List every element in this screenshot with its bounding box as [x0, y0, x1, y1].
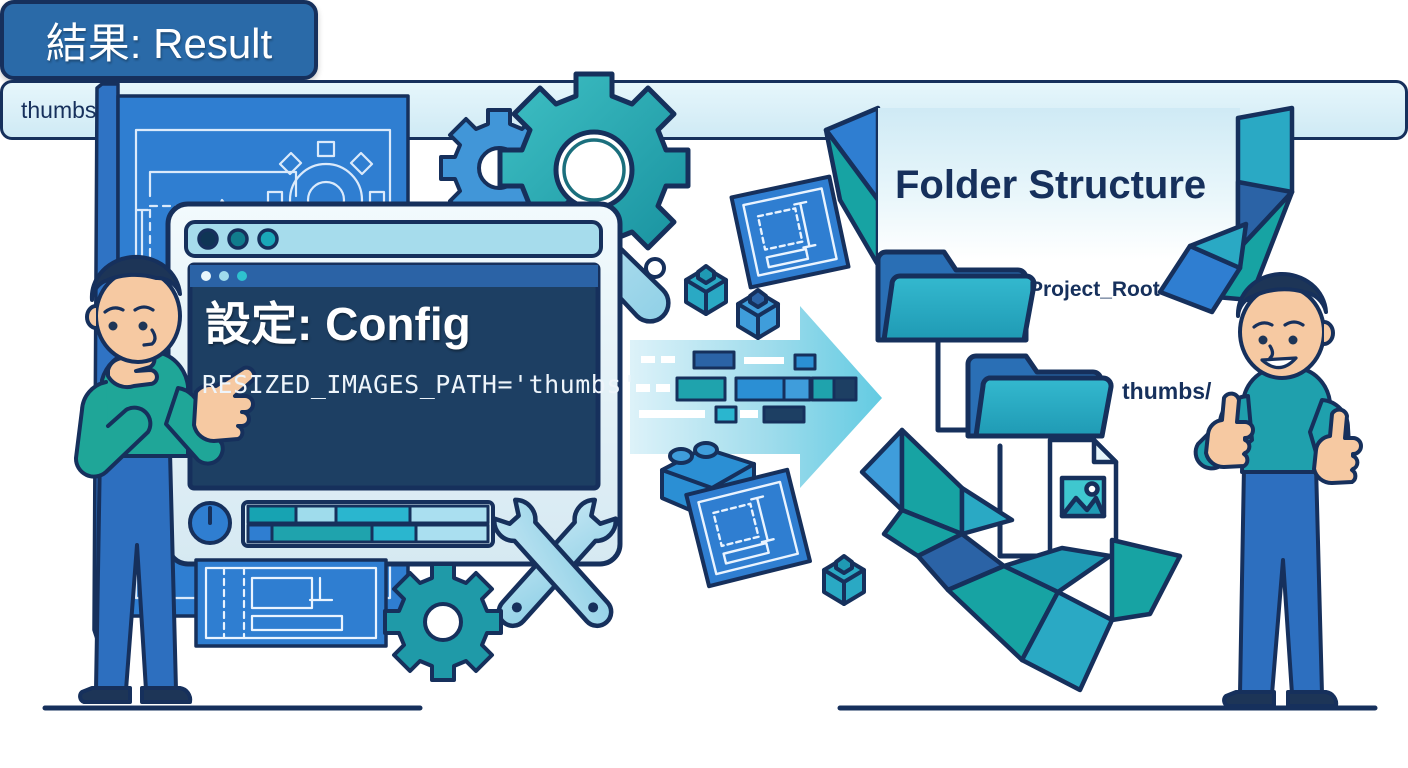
happy-person-figure: [1196, 274, 1361, 706]
cube-icon: [824, 556, 864, 604]
folder-structure-heading: Folder Structure: [895, 163, 1206, 208]
monitor-titlebar: [186, 222, 601, 256]
gear-bottom-icon: [385, 564, 501, 680]
folder-label-project-root: Project_Root: [1029, 278, 1160, 302]
config-code-line: RESIZED_IMAGES_PATH='thumbs': [202, 370, 637, 399]
cube-icon: [686, 266, 726, 314]
config-screen-title: 設定: Config: [205, 288, 471, 354]
folder-thumbs-icon[interactable]: [968, 356, 1111, 436]
illustration-canvas: 設定: Config RESIZED_IMAGES_PATH='thumbs' …: [0, 0, 1408, 768]
blueprint-panel-bottom-icon: [196, 560, 386, 646]
folder-label-thumbs: thumbs/: [1122, 378, 1211, 405]
folder-project-root-icon[interactable]: [878, 252, 1034, 340]
image-file-icon[interactable]: [1050, 440, 1116, 556]
origami-polygons-icon: [862, 430, 1180, 690]
blueprint-paper-icon: [732, 177, 849, 288]
cube-icon: [738, 290, 778, 338]
